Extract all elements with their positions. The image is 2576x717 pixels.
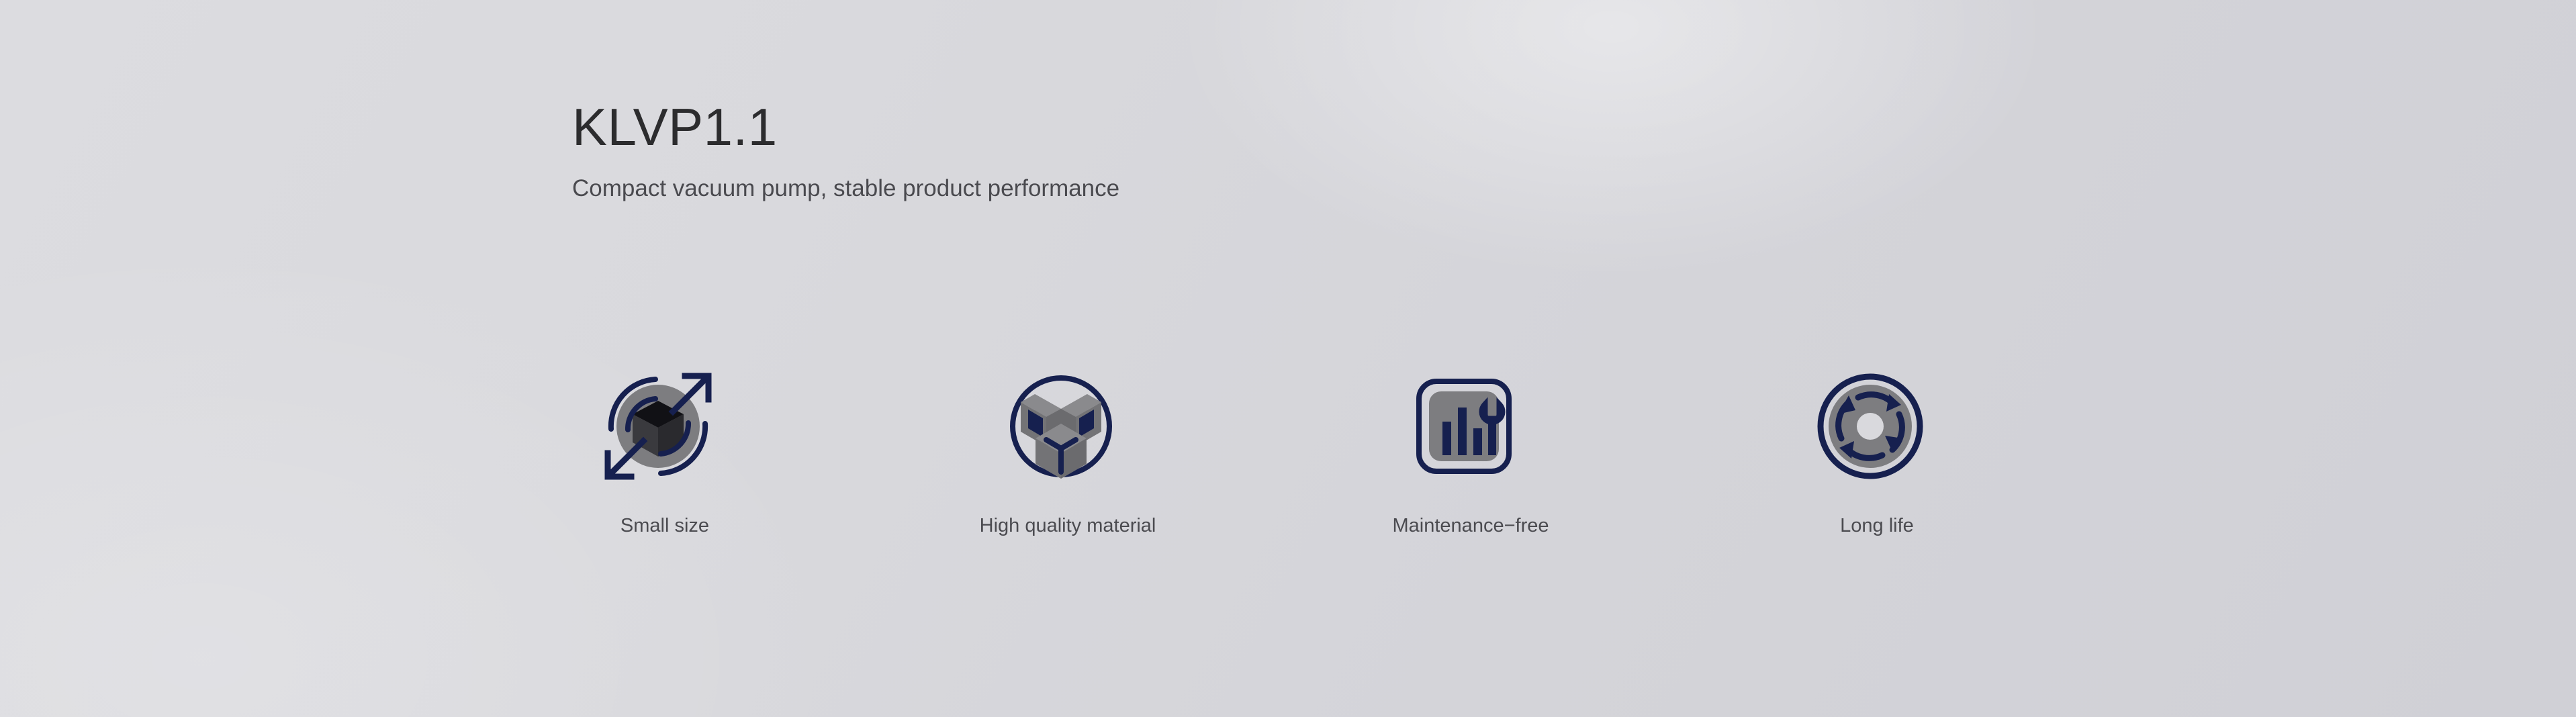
feature-label: Long life (1840, 516, 1914, 536)
hero-text-block: KLVP1.1 Compact vacuum pump, stable prod… (572, 101, 1119, 202)
resize-cube-icon (591, 359, 725, 493)
material-cubes-icon (994, 359, 1128, 493)
cycle-arrows-icon (1803, 359, 1937, 493)
bars-wrench-icon (1397, 359, 1531, 493)
feature-list: Small size (572, 359, 2003, 536)
feature-item-high-quality-material: High quality material (1014, 359, 1121, 536)
feature-item-small-size: Small size (611, 359, 719, 536)
page-title: KLVP1.1 (572, 101, 1119, 153)
feature-label: Maintenance−free (1393, 516, 1549, 536)
feature-item-long-life: Long life (1823, 359, 1931, 536)
product-subtitle: Compact vacuum pump, stable product perf… (572, 153, 1119, 202)
feature-item-maintenance-free: Maintenance−free (1417, 359, 1524, 536)
feature-label: High quality material (980, 516, 1156, 536)
product-hero-banner: KLVP1.1 Compact vacuum pump, stable prod… (0, 0, 2576, 717)
feature-label: Small size (620, 516, 709, 536)
